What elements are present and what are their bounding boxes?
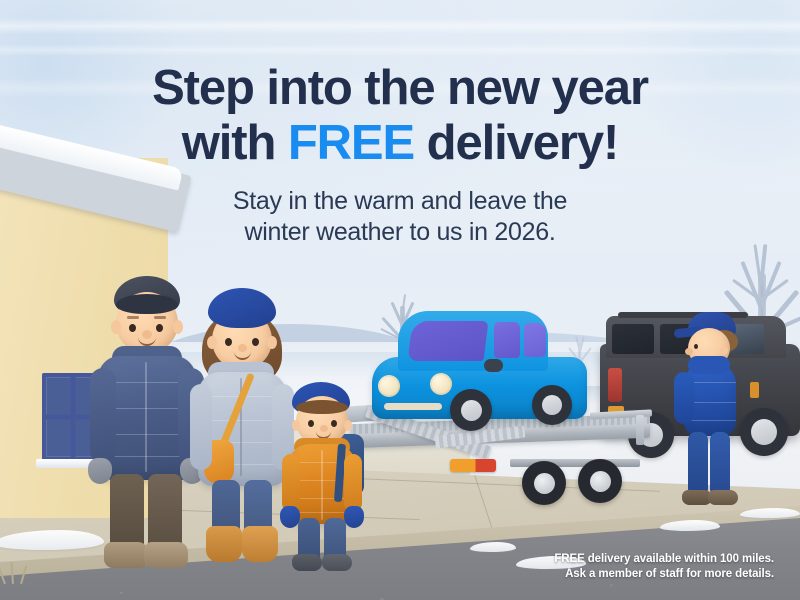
father-zip <box>145 362 147 472</box>
banner-copy: Step into the new year with FREE deliver… <box>0 62 800 248</box>
grass-tuft <box>0 560 50 584</box>
driver-eye <box>694 344 698 349</box>
child-boot <box>292 554 322 571</box>
child-ear <box>344 420 352 431</box>
headline-free-highlight: FREE <box>288 116 414 170</box>
mother-boot <box>242 526 278 562</box>
father-ear <box>173 320 183 334</box>
car-side-window <box>494 322 520 358</box>
driver-leg <box>688 432 708 494</box>
child-eye <box>331 420 337 427</box>
father-boot <box>144 542 188 568</box>
fineprint-line-2: Ask a member of staff for more details. <box>554 567 774 582</box>
trailer-hubcap <box>590 471 611 492</box>
child-glove <box>280 506 300 528</box>
father-hair <box>116 294 178 314</box>
father-ear <box>111 320 121 334</box>
headline-line-2: with FREE delivery! <box>0 117 800 170</box>
mother-figure <box>190 288 296 574</box>
car-side-window <box>524 323 546 357</box>
driver-ear <box>720 346 728 355</box>
child-zip <box>321 450 323 520</box>
child-arm <box>282 454 300 512</box>
trailer-rail <box>636 415 644 445</box>
child-arm <box>344 454 362 512</box>
subheading-line-1: Stay in the warm and leave the <box>0 186 800 217</box>
child-ear <box>292 420 300 431</box>
child-glove <box>344 506 364 528</box>
mother-ear <box>207 336 217 349</box>
car-wing-mirror <box>484 359 503 372</box>
father-eyebrow <box>127 316 139 319</box>
father-figure <box>86 276 206 576</box>
driver-boot <box>708 490 738 505</box>
mother-ear <box>267 336 277 349</box>
driver-nose <box>685 348 693 355</box>
snow-patch <box>470 542 516 552</box>
car-headlight <box>378 375 400 397</box>
father-arm <box>90 368 116 464</box>
driver-leg <box>710 432 730 494</box>
car-hubcap <box>542 395 562 415</box>
driver-collar <box>688 356 730 374</box>
car-hubcap <box>461 400 482 421</box>
father-glove <box>88 458 112 484</box>
driver-arm <box>674 372 694 424</box>
car-trailer <box>340 415 670 525</box>
subheading: Stay in the warm and leave the winter we… <box>0 186 800 248</box>
blue-car <box>372 305 587 430</box>
headline-prefix: with <box>182 116 288 170</box>
car-windscreen <box>408 321 489 361</box>
car-headlight <box>430 373 452 395</box>
child-boot <box>322 554 352 571</box>
father-eyebrow <box>154 316 166 319</box>
child-figure <box>282 382 368 572</box>
promotional-banner: Step into the new year with FREE deliver… <box>0 0 800 600</box>
father-eye <box>129 324 136 332</box>
father-trouser-leg <box>148 474 182 550</box>
mother-beanie <box>208 288 276 328</box>
fineprint-disclaimer: FREE delivery available within 100 miles… <box>554 552 774 582</box>
mother-eye <box>252 338 259 346</box>
child-eye <box>308 420 314 427</box>
father-boot <box>104 542 148 568</box>
cloud-band <box>0 44 800 56</box>
headline-line-1: Step into the new year <box>0 62 800 115</box>
trailer-light-cluster <box>450 459 496 472</box>
car-grille <box>384 403 442 410</box>
suv-rear-window <box>612 324 654 354</box>
fineprint-line-1: FREE delivery available within 100 miles… <box>554 552 774 567</box>
trailer-hubcap <box>534 473 555 494</box>
delivery-driver <box>676 312 758 522</box>
child-hair <box>296 400 348 414</box>
subheading-line-2: winter weather to us in 2026. <box>0 217 800 248</box>
headline-suffix: delivery! <box>414 116 618 170</box>
cloud-band <box>0 18 800 34</box>
mother-eye <box>225 338 232 346</box>
suv-tail-light <box>608 368 622 402</box>
mother-boot <box>206 526 242 562</box>
father-trouser-leg <box>110 474 144 550</box>
father-eye <box>156 324 163 332</box>
mother-arm <box>190 384 212 470</box>
